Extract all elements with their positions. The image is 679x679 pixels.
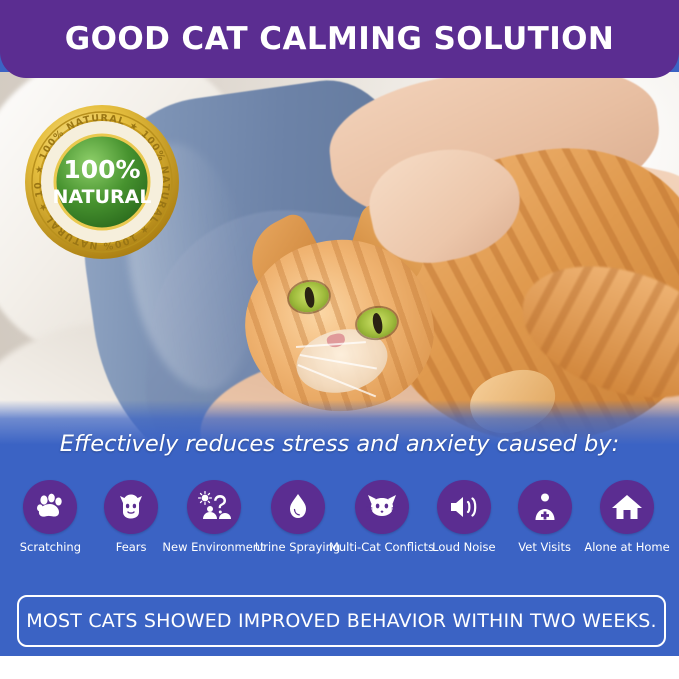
benefit-label: Scratching [20, 541, 81, 554]
vet-visit-icon [518, 480, 572, 534]
benefit-item-alone-at-home: Alone at Home [585, 480, 669, 554]
benefit-item-fears: Fears [91, 480, 172, 554]
multi-cat-icon [355, 480, 409, 534]
badge-percent: 100% [63, 155, 140, 184]
benefit-label: Alone at Home [584, 541, 669, 554]
bottom-white-strip [0, 656, 679, 679]
benefit-label: Loud Noise [432, 541, 495, 554]
header-band: GOOD CAT CALMING SOLUTION [0, 0, 679, 78]
new-environment-icon [187, 480, 241, 534]
benefit-label: New Environment [162, 541, 264, 554]
claim-box: MOST CATS SHOWED IMPROVED BEHAVIOR WITHI… [17, 595, 666, 647]
product-infographic: GOOD CAT CALMING SOLUTION [0, 0, 679, 679]
paw-icon [23, 480, 77, 534]
badge-natural: NATURAL [53, 186, 152, 208]
tagline-text: Effectively reduces stress and anxiety c… [60, 431, 619, 457]
benefit-label: Vet Visits [518, 541, 571, 554]
benefit-item-multi-cat-conflicts: Multi-Cat Conflicts [340, 480, 424, 554]
benefit-label: Urine Spraying [255, 541, 340, 554]
page-title: GOOD CAT CALMING SOLUTION [65, 21, 615, 57]
benefit-item-scratching: Scratching [10, 480, 91, 554]
benefit-item-urine-spraying: Urine Spraying [256, 480, 340, 554]
natural-badge: ★ 100% NATURAL ★ 100% NATURAL ★ 100% NAT… [20, 100, 184, 264]
house-icon [600, 480, 654, 534]
scared-cat-icon [104, 480, 158, 534]
benefit-label: Multi-Cat Conflicts [329, 541, 434, 554]
claim-text: MOST CATS SHOWED IMPROVED BEHAVIOR WITHI… [26, 610, 656, 632]
benefit-item-loud-noise: Loud Noise [424, 480, 505, 554]
benefit-item-vet-visits: Vet Visits [504, 480, 585, 554]
benefit-item-new-environment: New Environment [172, 480, 256, 554]
tagline-band: Effectively reduces stress and anxiety c… [0, 400, 679, 472]
benefit-label: Fears [116, 541, 147, 554]
urine-spray-icon [271, 480, 325, 534]
loud-noise-icon [437, 480, 491, 534]
benefit-icon-strip: Scratching Fears [0, 472, 679, 582]
